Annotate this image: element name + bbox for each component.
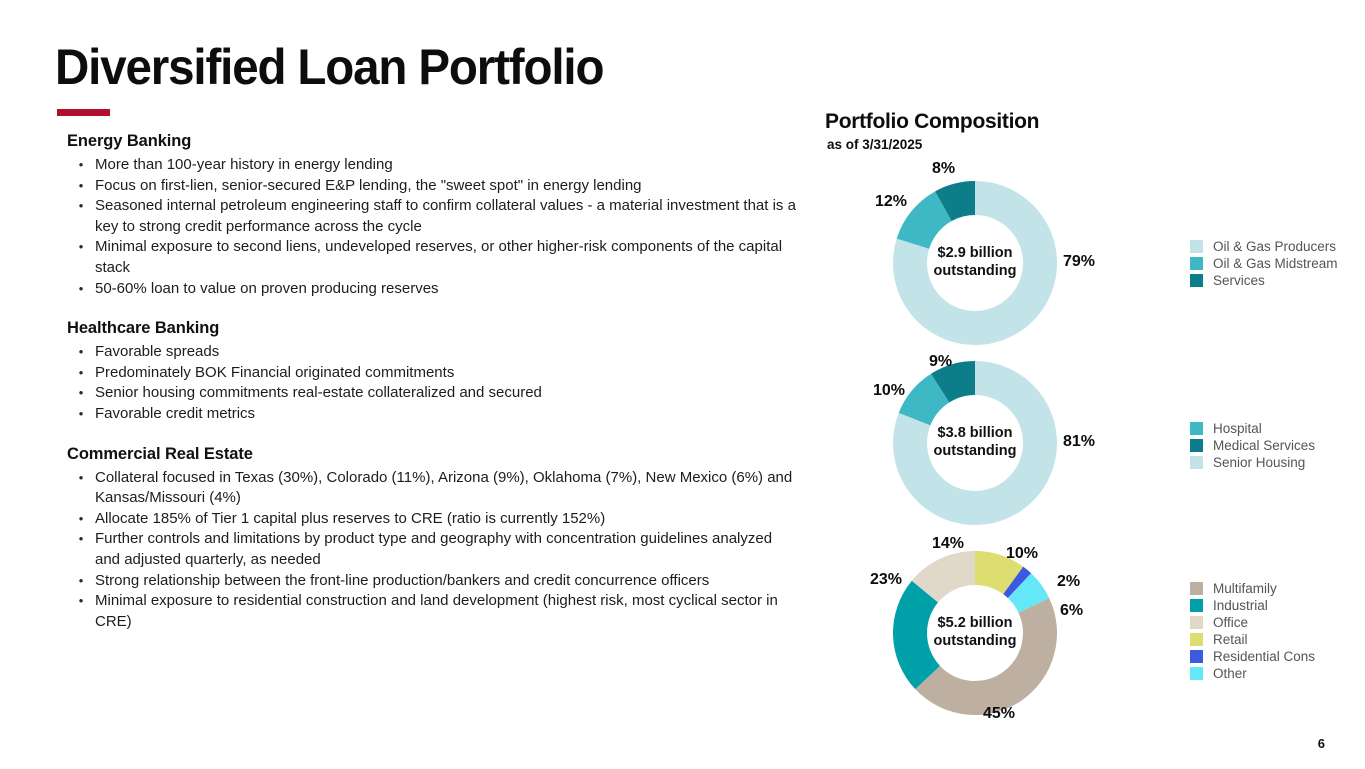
- legend-label: Industrial: [1213, 597, 1268, 614]
- list-item: •Focus on first-lien, senior-secured E&P…: [67, 176, 797, 197]
- chart-legend: Oil & Gas ProducersOil & Gas MidstreamSe…: [1190, 238, 1338, 289]
- legend-swatch-icon: [1190, 633, 1203, 646]
- legend-label: Oil & Gas Producers: [1213, 238, 1336, 255]
- legend-swatch-icon: [1190, 240, 1203, 253]
- donut-percent-label: 6%: [1060, 602, 1083, 620]
- bullet-dot-icon: •: [67, 468, 95, 489]
- list-item: •Predominately BOK Financial originated …: [67, 363, 797, 384]
- legend-label: Retail: [1213, 631, 1248, 648]
- bullet-dot-icon: •: [67, 196, 95, 217]
- bullet-dot-icon: •: [67, 237, 95, 258]
- bullet-text: Minimal exposure to residential construc…: [95, 591, 797, 632]
- legend-label: Services: [1213, 272, 1265, 289]
- donut-center-label: $5.2 billionoutstanding: [915, 614, 1035, 650]
- bullet-dot-icon: •: [67, 279, 95, 300]
- donut-percent-label: 2%: [1057, 573, 1080, 591]
- legend-item[interactable]: Retail: [1190, 631, 1315, 648]
- legend-item[interactable]: Other: [1190, 665, 1315, 682]
- section-spacer: [67, 301, 797, 319]
- bullet-dot-icon: •: [67, 404, 95, 425]
- chart-legend: MultifamilyIndustrialOfficeRetailResiden…: [1190, 580, 1315, 682]
- legend-item[interactable]: Residential Cons: [1190, 648, 1315, 665]
- section-energy-banking: Energy Banking •More than 100-year histo…: [67, 132, 797, 299]
- bullet-dot-icon: •: [67, 571, 95, 592]
- legend-swatch-icon: [1190, 582, 1203, 595]
- bullet-list: •Favorable spreads •Predominately BOK Fi…: [67, 342, 797, 424]
- list-item: •Allocate 185% of Tier 1 capital plus re…: [67, 509, 797, 530]
- bullet-text: Minimal exposure to second liens, undeve…: [95, 237, 797, 278]
- bullet-dot-icon: •: [67, 529, 95, 550]
- list-item: •Minimal exposure to second liens, undev…: [67, 237, 797, 278]
- bullet-text: Senior housing commitments real-estate c…: [95, 383, 797, 404]
- bullet-dot-icon: •: [67, 176, 95, 197]
- legend-swatch-icon: [1190, 667, 1203, 680]
- legend-swatch-icon: [1190, 616, 1203, 629]
- bullet-text: Favorable spreads: [95, 342, 797, 363]
- page-title: Diversified Loan Portfolio: [55, 38, 603, 96]
- list-item: •Further controls and limitations by pro…: [67, 529, 797, 570]
- legend-item[interactable]: Oil & Gas Midstream: [1190, 255, 1338, 272]
- page-number: 6: [1318, 736, 1325, 751]
- bullet-text: Further controls and limitations by prod…: [95, 529, 797, 570]
- bullet-dot-icon: •: [67, 591, 95, 612]
- legend-item[interactable]: Hospital: [1190, 420, 1315, 437]
- donut-percent-label: 23%: [870, 571, 902, 589]
- legend-item[interactable]: Oil & Gas Producers: [1190, 238, 1338, 255]
- legend-swatch-icon: [1190, 456, 1203, 469]
- donut-percent-label: 10%: [1006, 545, 1038, 563]
- legend-item[interactable]: Multifamily: [1190, 580, 1315, 597]
- bullet-text: Predominately BOK Financial originated c…: [95, 363, 797, 384]
- slide-root: Diversified Loan Portfolio Energy Bankin…: [0, 0, 1365, 769]
- legend-label: Multifamily: [1213, 580, 1277, 597]
- bullet-dot-icon: •: [67, 363, 95, 384]
- bullet-list: •More than 100-year history in energy le…: [67, 155, 797, 299]
- legend-label: Other: [1213, 665, 1247, 682]
- list-item: •Favorable credit metrics: [67, 404, 797, 425]
- section-heading: Commercial Real Estate: [67, 445, 797, 464]
- legend-label: Senior Housing: [1213, 454, 1305, 471]
- list-item: •50-60% loan to value on proven producin…: [67, 279, 797, 300]
- legend-item[interactable]: Senior Housing: [1190, 454, 1315, 471]
- donut-percent-label: 45%: [983, 705, 1015, 723]
- list-item: •Seasoned internal petroleum engineering…: [67, 196, 797, 237]
- chart-panel: Portfolio Composition as of 3/31/2025 $2…: [820, 105, 1365, 745]
- chart-legend: HospitalMedical ServicesSenior Housing: [1190, 420, 1315, 471]
- bullet-text: 50-60% loan to value on proven producing…: [95, 279, 797, 300]
- legend-swatch-icon: [1190, 650, 1203, 663]
- section-commercial-real-estate: Commercial Real Estate •Collateral focus…: [67, 445, 797, 633]
- bullet-text: Allocate 185% of Tier 1 capital plus res…: [95, 509, 797, 530]
- bullet-text: More than 100-year history in energy len…: [95, 155, 797, 176]
- bullet-text: Favorable credit metrics: [95, 404, 797, 425]
- legend-label: Medical Services: [1213, 437, 1315, 454]
- list-item: •Minimal exposure to residential constru…: [67, 591, 797, 632]
- list-item: •Senior housing commitments real-estate …: [67, 383, 797, 404]
- bullet-dot-icon: •: [67, 342, 95, 363]
- legend-item[interactable]: Medical Services: [1190, 437, 1315, 454]
- legend-label: Office: [1213, 614, 1248, 631]
- legend-swatch-icon: [1190, 422, 1203, 435]
- donut-center-amount: $5.2 billion: [915, 614, 1035, 632]
- section-heading: Energy Banking: [67, 132, 797, 151]
- list-item: •Strong relationship between the front-l…: [67, 571, 797, 592]
- donut-percent-label: 14%: [932, 535, 964, 553]
- legend-label: Residential Cons: [1213, 648, 1315, 665]
- bullet-text: Seasoned internal petroleum engineering …: [95, 196, 797, 237]
- legend-swatch-icon: [1190, 274, 1203, 287]
- legend-label: Hospital: [1213, 420, 1262, 437]
- list-item: •More than 100-year history in energy le…: [67, 155, 797, 176]
- bullet-dot-icon: •: [67, 509, 95, 530]
- bullet-dot-icon: •: [67, 155, 95, 176]
- content-column: Energy Banking •More than 100-year histo…: [67, 132, 797, 634]
- legend-item[interactable]: Office: [1190, 614, 1315, 631]
- bullet-dot-icon: •: [67, 383, 95, 404]
- bullet-text: Strong relationship between the front-li…: [95, 571, 797, 592]
- legend-label: Oil & Gas Midstream: [1213, 255, 1338, 272]
- legend-item[interactable]: Industrial: [1190, 597, 1315, 614]
- legend-swatch-icon: [1190, 257, 1203, 270]
- list-item: •Favorable spreads: [67, 342, 797, 363]
- section-spacer: [67, 427, 797, 445]
- bullet-text: Focus on first-lien, senior-secured E&P …: [95, 176, 797, 197]
- list-item: •Collateral focused in Texas (30%), Colo…: [67, 468, 797, 509]
- bullet-list: •Collateral focused in Texas (30%), Colo…: [67, 468, 797, 633]
- legend-swatch-icon: [1190, 599, 1203, 612]
- accent-bar: [57, 109, 110, 116]
- donut-center-caption: outstanding: [915, 632, 1035, 650]
- legend-item[interactable]: Services: [1190, 272, 1338, 289]
- bullet-text: Collateral focused in Texas (30%), Color…: [95, 468, 797, 509]
- section-healthcare-banking: Healthcare Banking •Favorable spreads •P…: [67, 319, 797, 424]
- section-heading: Healthcare Banking: [67, 319, 797, 338]
- legend-swatch-icon: [1190, 439, 1203, 452]
